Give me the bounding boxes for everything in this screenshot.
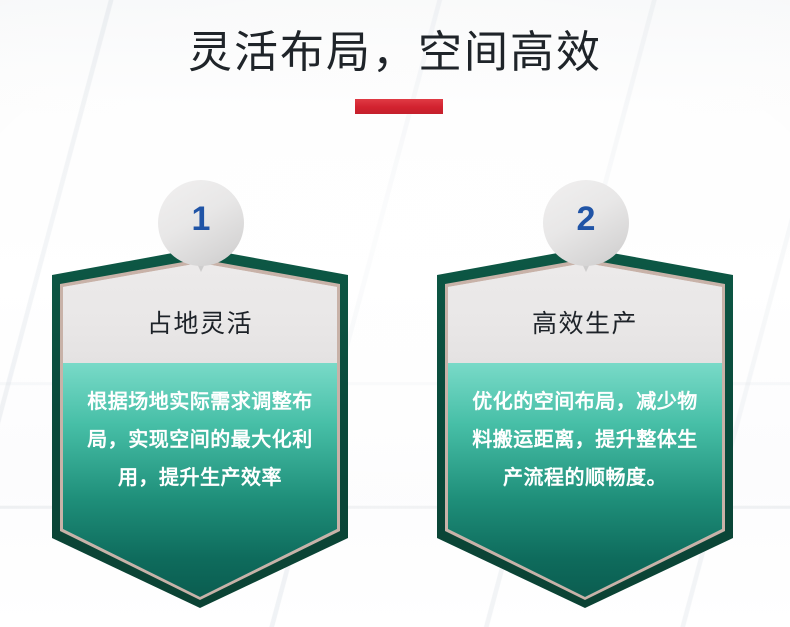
feature-card-2[interactable]: 高效生产 优化的空间布局，减少物料搬运距离，提升整体生产流程的顺畅度。 — [437, 248, 733, 608]
card-title: 占地灵活 — [63, 309, 337, 339]
feature-card-1[interactable]: 占地灵活 根据场地实际需求调整布局，实现空间的最大化利用，提升生产效率 — [52, 248, 348, 608]
card-title: 高效生产 — [448, 309, 722, 339]
card-content: 占地灵活 根据场地实际需求调整布局，实现空间的最大化利用，提升生产效率 — [63, 263, 337, 597]
card-content: 高效生产 优化的空间布局，减少物料搬运距离，提升整体生产流程的顺畅度。 — [448, 263, 722, 597]
page-title: 灵活布局，空间高效 — [0, 22, 790, 84]
card-description: 根据场地实际需求调整布局，实现空间的最大化利用，提升生产效率 — [81, 383, 319, 497]
card-description: 优化的空间布局，减少物料搬运距离，提升整体生产流程的顺畅度。 — [466, 383, 704, 497]
header-banner: 灵活布局，空间高效 — [0, 0, 790, 130]
card-2-number: 2 — [543, 198, 629, 240]
card-1-number: 1 — [158, 198, 244, 240]
card-1-number-pin: 1 — [158, 180, 244, 272]
card-2-number-pin: 2 — [543, 180, 629, 272]
title-accent-bar — [355, 99, 443, 114]
title-frame-bottom-edge — [0, 140, 622, 142]
